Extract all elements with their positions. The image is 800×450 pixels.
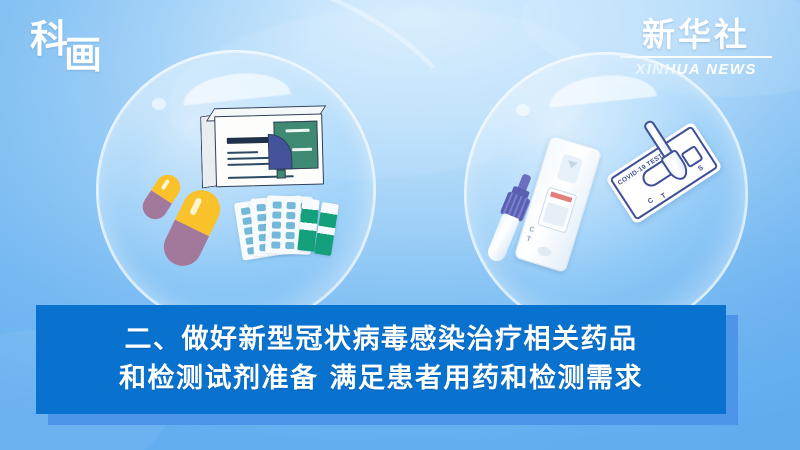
headline-line-2: 和检测试剂准备 满足患者用药和检测需求 [119,360,643,399]
blister-pill-cell [271,241,280,248]
medicine-box-panel-line [286,129,310,133]
blister-pill-cell [256,204,265,212]
cassette-label-c: C [528,226,535,234]
blister-pill-cell [286,232,295,239]
cassette-test-line [542,202,569,228]
poster-stage: 科 画 新华社 XINHUA NEWS [0,0,800,450]
ke-hua-logo-char-1: 科 [30,20,67,58]
blister-pill-cell [285,242,294,249]
medicine-box-icon [200,106,326,187]
ke-hua-logo-char-2: 画 [64,36,102,74]
medicine-box-text-line [227,163,271,166]
bubble-highlight-dot [516,104,530,116]
medicine-bubble [96,50,376,330]
blister-pill-cell [241,207,251,215]
ke-hua-logo: 科 画 [30,16,116,78]
bubble-highlight-arc [547,70,657,107]
cassette-sample-well [556,154,583,185]
bubble-highlight-arc [181,68,291,105]
bubble-highlight-dot [152,98,166,110]
headline-line-1: 二、做好新型冠状病毒感染治疗相关药品 [125,321,638,360]
medicine-box-text-line [227,157,271,160]
cassette-result-window [537,187,577,234]
cassette-control-line [550,192,573,203]
medicine-box-text-line [227,151,258,153]
medicine-box-face [214,113,324,187]
cassette-label-t: T [525,235,531,243]
blister-pill-cell [273,201,282,208]
blister-pill-cell [286,222,295,229]
blister-pill-cell [287,202,296,209]
blister-pill-cell [286,212,295,219]
medicine-box-logo-square [277,169,286,178]
cassette-bottom-hole [536,245,552,258]
headline-banner: 二、做好新型冠状病毒感染治疗相关药品 和检测试剂准备 满足患者用药和检测需求 [36,305,726,414]
blister-pill-cell [272,211,281,218]
blister-pill-cell [272,231,281,238]
xinhua-logo-cn: 新华社 [616,18,776,53]
blister-pill-cell [272,221,281,228]
medicine-box-panel-line [292,148,312,152]
